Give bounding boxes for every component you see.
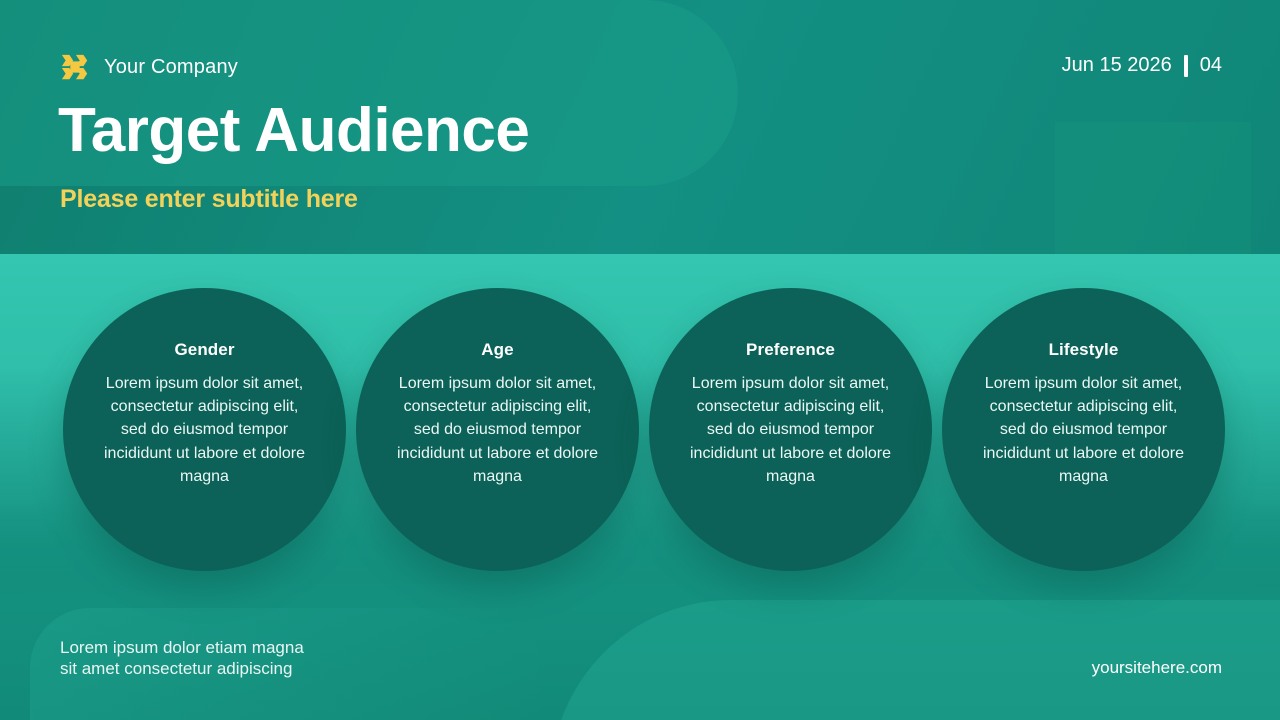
slide-header: Your Company Jun 15 2026 04 Target Audie…: [0, 0, 1280, 254]
page-subtitle: Please enter subtitle here: [60, 185, 358, 214]
footer-note: Lorem ipsum dolor etiam magna sit amet c…: [60, 637, 304, 680]
company-name: Your Company: [104, 56, 238, 79]
segment-title: Age: [481, 340, 513, 360]
presentation-slide: Your Company Jun 15 2026 04 Target Audie…: [0, 0, 1280, 720]
segment-body: Lorem ipsum dolor sit amet, consectetur …: [392, 372, 604, 488]
segment-circle-lifestyle[interactable]: Lifestyle Lorem ipsum dolor sit amet, co…: [942, 288, 1225, 571]
segment-body: Lorem ipsum dolor sit amet, consectetur …: [99, 372, 311, 488]
segment-circle-age[interactable]: Age Lorem ipsum dolor sit amet, consecte…: [356, 288, 639, 571]
meta-divider: [1184, 55, 1188, 77]
slide-meta: Jun 15 2026 04: [1062, 54, 1222, 77]
segment-title: Gender: [174, 340, 234, 360]
page-title: Target Audience: [58, 98, 529, 165]
segment-body: Lorem ipsum dolor sit amet, consectetur …: [978, 372, 1190, 488]
slide-date: Jun 15 2026: [1062, 54, 1172, 77]
segment-circle-gender[interactable]: Gender Lorem ipsum dolor sit amet, conse…: [63, 288, 346, 571]
x-mark-logo-icon: [60, 52, 90, 82]
audience-segments-list: Gender Lorem ipsum dolor sit amet, conse…: [0, 288, 1280, 578]
segment-title: Lifestyle: [1049, 340, 1119, 360]
segment-title: Preference: [746, 340, 835, 360]
segment-body: Lorem ipsum dolor sit amet, consectetur …: [685, 372, 897, 488]
segment-circle-preference[interactable]: Preference Lorem ipsum dolor sit amet, c…: [649, 288, 932, 571]
footer-website[interactable]: yoursitehere.com: [1092, 658, 1222, 678]
brand-lockup[interactable]: Your Company: [60, 52, 238, 82]
slide-page-number: 04: [1200, 54, 1222, 77]
